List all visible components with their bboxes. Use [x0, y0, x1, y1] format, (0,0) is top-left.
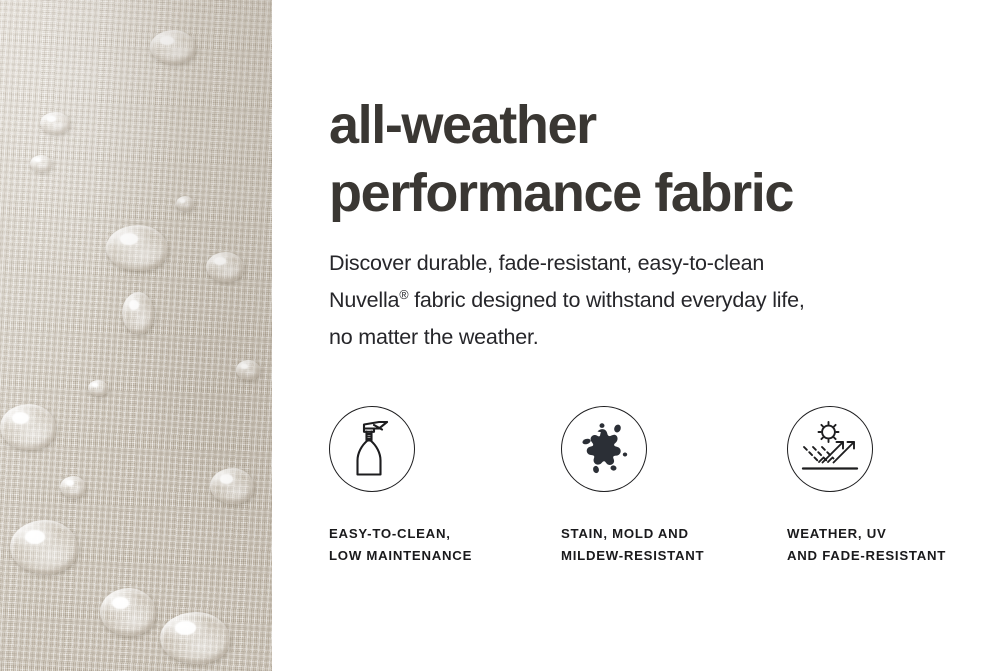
stain-splatter-icon — [561, 406, 647, 492]
description-text: Discover durable, fade-resistant, easy-t… — [329, 245, 969, 356]
feature-caption: WEATHER, UV AND FADE-RESISTANT — [787, 523, 946, 567]
all-weather-fabric-promo: all-weather performance fabric Discover … — [0, 0, 1005, 671]
sun-uv-reflect-icon — [787, 406, 873, 492]
description-line-1: Discover durable, fade-resistant, easy-t… — [329, 251, 764, 275]
registered-trademark-symbol: ® — [399, 288, 408, 302]
feature-weather-uv-resistant: WEATHER, UV AND FADE-RESISTANT — [787, 406, 946, 567]
brand-name: Nuvella — [329, 288, 399, 312]
water-beading-fabric-photo — [0, 0, 272, 671]
page-title: all-weather performance fabric — [329, 91, 989, 227]
feature-caption: EASY-TO-CLEAN, LOW MAINTENANCE — [329, 523, 472, 567]
spray-bottle-icon — [329, 406, 415, 492]
content-panel: all-weather performance fabric Discover … — [272, 0, 1005, 671]
feature-list: EASY-TO-CLEAN, LOW MAINTENANCE STAIN, M — [329, 406, 1005, 576]
description-line-2: fabric designed to withstand everyday li… — [408, 288, 804, 312]
feature-easy-to-clean: EASY-TO-CLEAN, LOW MAINTENANCE — [329, 406, 472, 567]
feature-caption: STAIN, MOLD AND MILDEW-RESISTANT — [561, 523, 704, 567]
photo-lighting-overlay — [0, 0, 272, 671]
description-line-3: no matter the weather. — [329, 325, 539, 349]
feature-stain-resistant: STAIN, MOLD AND MILDEW-RESISTANT — [561, 406, 704, 567]
